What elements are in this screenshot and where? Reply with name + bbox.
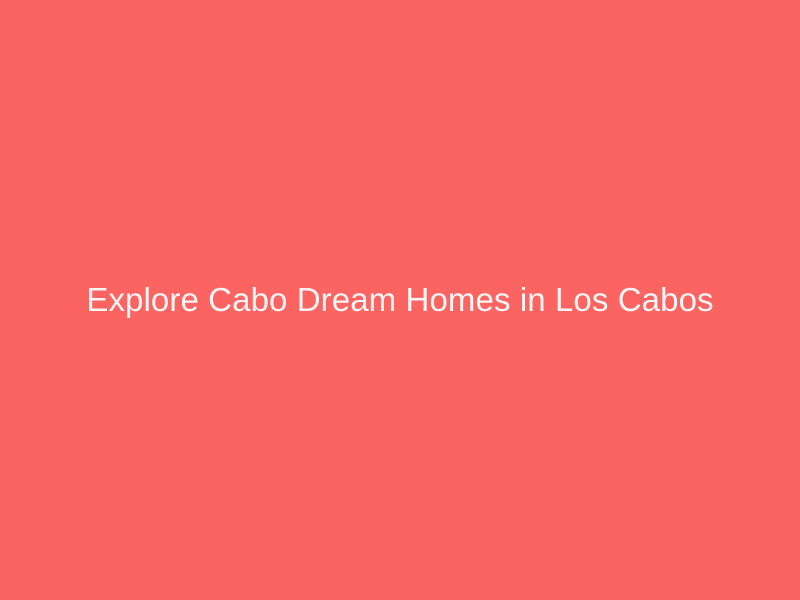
hero-banner: Explore Cabo Dream Homes in Los Cabos bbox=[0, 0, 800, 600]
page-title: Explore Cabo Dream Homes in Los Cabos bbox=[66, 280, 733, 320]
